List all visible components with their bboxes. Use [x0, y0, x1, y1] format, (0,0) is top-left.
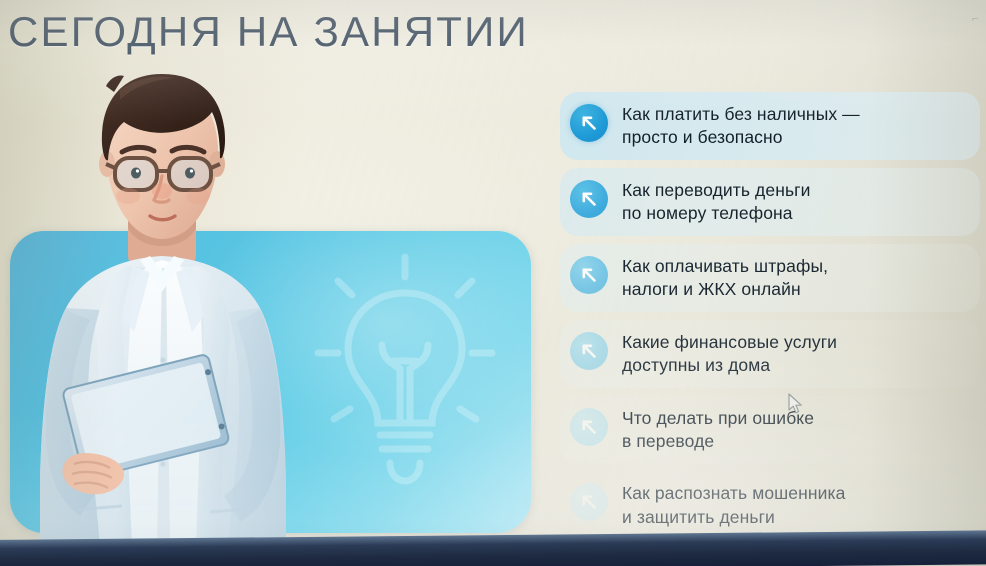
presentation-slide: СЕГОДНЯ НА ЗАНЯТИИ	[0, 0, 986, 566]
list-item[interactable]: Как распознать мошенника и защитить день…	[560, 471, 980, 539]
corner-mark: ⌐	[972, 14, 981, 25]
list-item-label: Как платить без наличных — просто и безо…	[622, 102, 860, 150]
list-item-label: Какие финансовые услуги доступны из дома	[622, 330, 837, 378]
arrow-up-left-icon	[570, 483, 608, 521]
lightbulb-icon	[310, 249, 500, 499]
list-item[interactable]: Как оплачивать штрафы, налоги и ЖКХ онла…	[560, 244, 980, 312]
list-item[interactable]: Как платить без наличных — просто и безо…	[560, 92, 980, 160]
list-item[interactable]: Что делать при ошибке в переводе	[560, 396, 980, 464]
list-item[interactable]: Как переводить деньги по номеру телефона	[560, 168, 980, 236]
arrow-up-left-icon	[570, 180, 608, 218]
list-item-label: Что делать при ошибке в переводе	[622, 406, 814, 454]
list-item-label: Как переводить деньги по номеру телефона	[622, 178, 811, 226]
mouse-pointer	[788, 393, 804, 415]
arrow-up-left-icon	[570, 332, 608, 370]
arrow-up-left-icon	[570, 104, 608, 142]
list-item-label: Как распознать мошенника и защитить день…	[622, 481, 846, 529]
arrow-up-left-icon	[570, 256, 608, 294]
list-item[interactable]: Какие финансовые услуги доступны из дома	[560, 320, 980, 388]
person-illustration	[14, 60, 314, 546]
arrow-up-left-icon	[570, 408, 608, 446]
topics-list: Как платить без наличных — просто и безо…	[560, 92, 980, 547]
list-item-label: Как оплачивать штрафы, налоги и ЖКХ онла…	[622, 254, 828, 302]
slide-title: СЕГОДНЯ НА ЗАНЯТИИ	[8, 8, 529, 56]
